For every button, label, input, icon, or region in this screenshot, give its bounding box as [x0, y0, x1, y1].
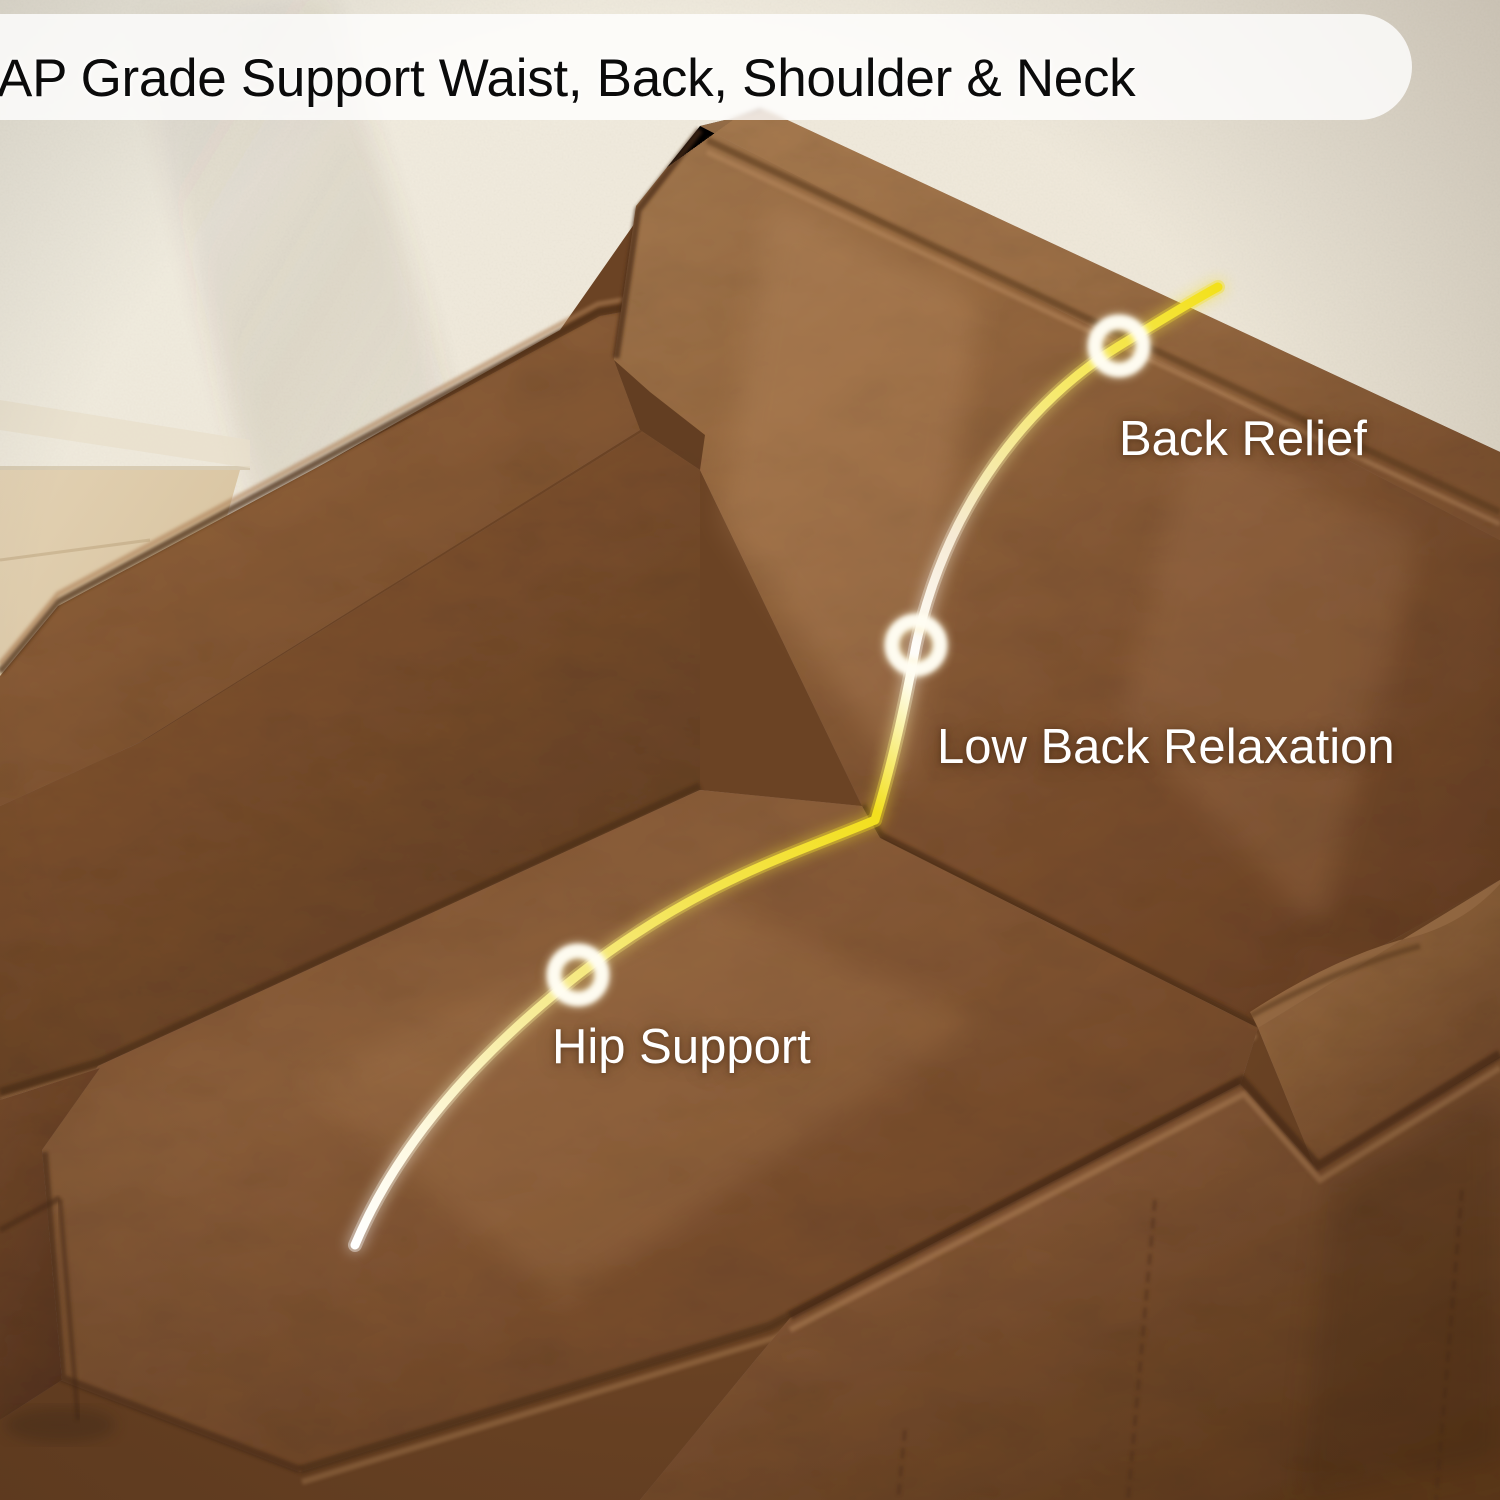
product-feature-image: Back Relief Low Back Relaxation Hip Supp… [0, 0, 1500, 1500]
callout-label-back-relief: Back Relief [1119, 411, 1367, 467]
header-banner: SAP Grade Support Waist, Back, Shoulder … [0, 14, 1412, 120]
marker-back-relief[interactable] [1076, 303, 1162, 389]
marker-ring-icon [1088, 315, 1150, 377]
header-title: SAP Grade Support Waist, Back, Shoulder … [0, 44, 1362, 114]
marker-ring-icon [547, 944, 609, 1006]
marker-ring-icon [885, 614, 947, 676]
callout-label-low-back-relaxation: Low Back Relaxation [937, 719, 1395, 775]
marker-low-back-relaxation[interactable] [873, 602, 959, 688]
callout-label-hip-support: Hip Support [552, 1019, 811, 1075]
marker-hip-support[interactable] [535, 932, 621, 1018]
